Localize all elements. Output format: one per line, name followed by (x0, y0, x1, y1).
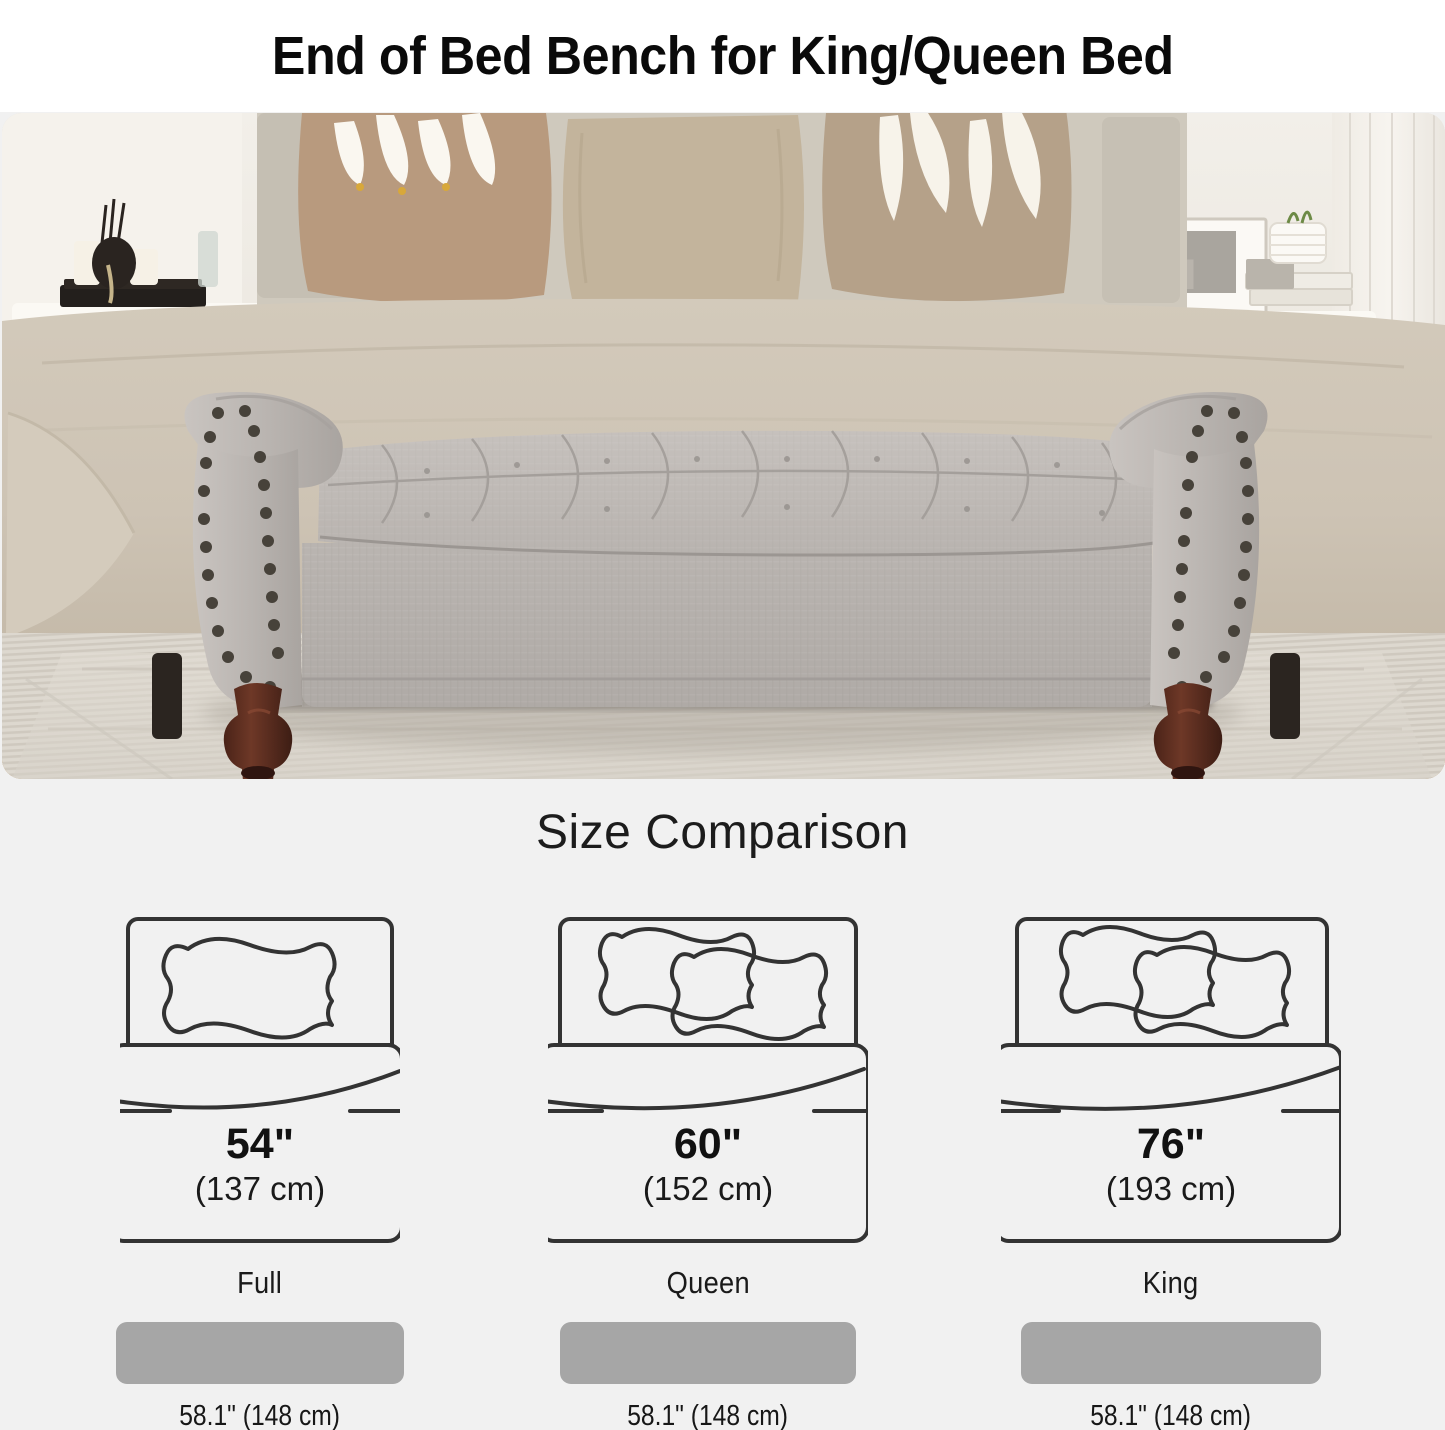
bed-width-cm-full: (137 cm) (120, 1172, 400, 1205)
bed-width-inches-full: 54" (120, 1123, 400, 1166)
size-comparison-section: Size Comparison 54" (0, 779, 1445, 1430)
hero-product-photo: Gray tufted storage bench with rolled ar… (2, 113, 1445, 779)
page-title: End of Bed Bench for King/Queen Bed (272, 25, 1174, 87)
bed-label-queen: Queen (666, 1265, 749, 1301)
size-card-king: 76" (193 cm) King 58.1" (148 cm) (956, 905, 1386, 1430)
bench-bar-full (116, 1322, 404, 1384)
bed-label-full: Full (237, 1265, 282, 1301)
title-bar: End of Bed Bench for King/Queen Bed (0, 0, 1445, 112)
bench-caption-king: 58.1" (148 cm) (1091, 1400, 1252, 1430)
bench-bar-queen (560, 1322, 856, 1384)
bed-width-cm-queen: (152 cm) (548, 1172, 868, 1205)
bed-width-inches-queen: 60" (548, 1123, 868, 1166)
bed-diagram-king: 76" (193 cm) (1001, 905, 1341, 1255)
bench-caption-full: 58.1" (148 cm) (180, 1400, 341, 1430)
bed-diagram-queen: 60" (152 cm) (548, 905, 868, 1255)
bench-bar-king (1021, 1322, 1321, 1384)
size-card-full: 54" (137 cm) Full 58.1" (148 cm) (60, 905, 460, 1430)
size-card-queen: 60" (152 cm) Queen 58.1" (148 cm) (508, 905, 908, 1430)
bench-caption-queen: 58.1" (148 cm) (628, 1400, 789, 1430)
size-comparison-heading: Size Comparison (0, 805, 1445, 860)
bed-label-king: King (1143, 1265, 1199, 1301)
bedroom-scene-illustration (2, 113, 1445, 779)
bed-width-cm-king: (193 cm) (1001, 1172, 1341, 1205)
bed-width-inches-king: 76" (1001, 1123, 1341, 1166)
bed-diagram-full: 54" (137 cm) (120, 905, 400, 1255)
